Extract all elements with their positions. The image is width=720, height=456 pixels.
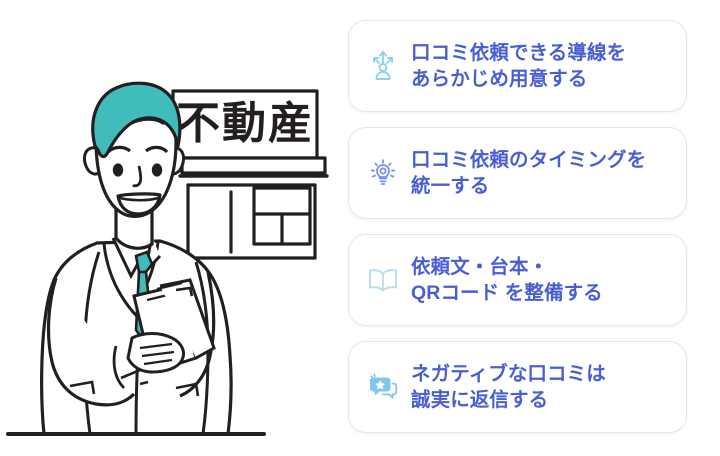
lightbulb-idea-icon [357, 147, 409, 199]
illustration-pane: 不動産 [0, 0, 340, 456]
tip-card-1-label: 口コミ依頼できる導線を あらかじめ用意する [409, 40, 676, 93]
funnel-pathways-person-icon [357, 40, 409, 92]
shop-fascia [180, 158, 327, 176]
page-root: 不動産 [0, 0, 720, 456]
tip-card-4[interactable]: ネガティブな口コミは 誠実に返信する [348, 341, 687, 433]
agent-hand [128, 334, 184, 373]
tip-card-4-label: ネガティブな口コミは 誠実に返信する [409, 361, 676, 414]
real-estate-agent-illustration: 不動産 [0, 0, 340, 456]
tip-card-2[interactable]: 口コミ依頼のタイミングを 統一する [348, 127, 687, 219]
chat-bubbles-star-icon [357, 361, 409, 413]
open-book-icon [357, 254, 409, 306]
tip-card-1[interactable]: 口コミ依頼できる導線を あらかじめ用意する [348, 20, 687, 112]
tip-card-3-label: 依頼文・台本・ QRコード を整備する [409, 254, 676, 307]
tip-card-2-label: 口コミ依頼のタイミングを 統一する [409, 147, 676, 200]
shop-window [254, 188, 310, 244]
tip-card-3[interactable]: 依頼文・台本・ QRコード を整備する [348, 234, 687, 326]
tips-card-list: 口コミ依頼できる導線を あらかじめ用意する [340, 0, 720, 456]
shop-sign-text: 不動産 [176, 98, 314, 149]
